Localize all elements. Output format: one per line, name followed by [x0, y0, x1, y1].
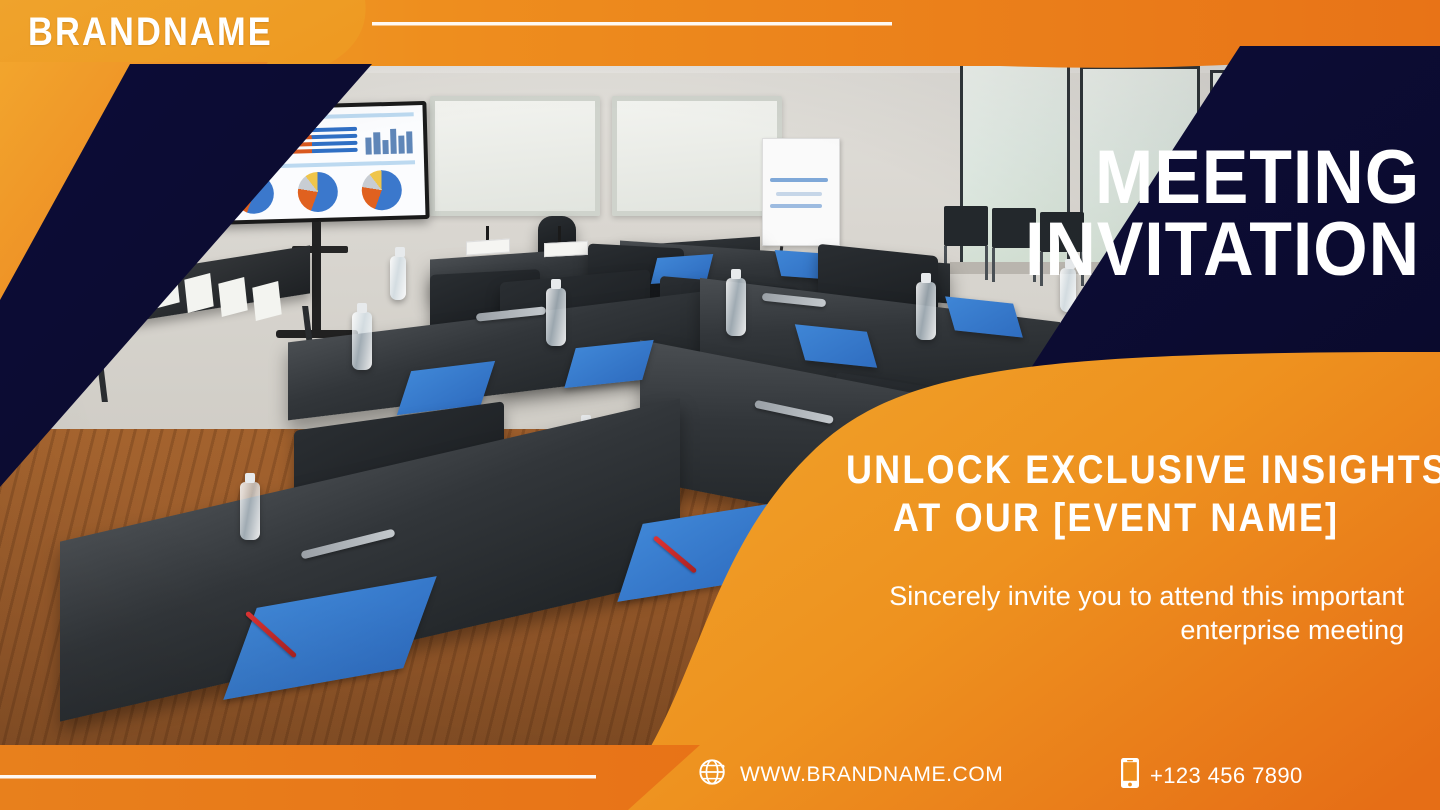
page-title: MEETING INVITATION [860, 142, 1420, 286]
website-url[interactable]: WWW.BRANDNAME.COM [740, 763, 1003, 787]
title-line-2: INVITATION [905, 214, 1420, 286]
phone-contact[interactable]: +123 456 7890 [1120, 757, 1303, 794]
headline-line-2: AT OUR [EVENT NAME] [846, 494, 1386, 542]
subtitle-line-1: Sincerely invite you to attend this impo… [804, 580, 1404, 614]
brand-shape-overlay [0, 0, 1440, 810]
meeting-invitation-poster: BRANDNAME MEETING INVITATION UNLOCK EXCL… [0, 0, 1440, 810]
phone-icon [1120, 757, 1140, 794]
brand-name: BRANDNAME [28, 8, 312, 56]
globe-icon [698, 757, 728, 792]
website-contact[interactable]: WWW.BRANDNAME.COM [698, 757, 1003, 792]
headline: UNLOCK EXCLUSIVE INSIGHTS AT OUR [EVENT … [816, 446, 1416, 542]
title-line-1: MEETING [905, 142, 1420, 214]
subtitle: Sincerely invite you to attend this impo… [804, 580, 1404, 648]
phone-number[interactable]: +123 456 7890 [1150, 763, 1303, 789]
bottom-divider-line [0, 775, 596, 779]
subtitle-line-2: enterprise meeting [804, 614, 1404, 648]
top-divider-line [372, 22, 892, 26]
headline-line-1: UNLOCK EXCLUSIVE INSIGHTS [846, 446, 1386, 494]
